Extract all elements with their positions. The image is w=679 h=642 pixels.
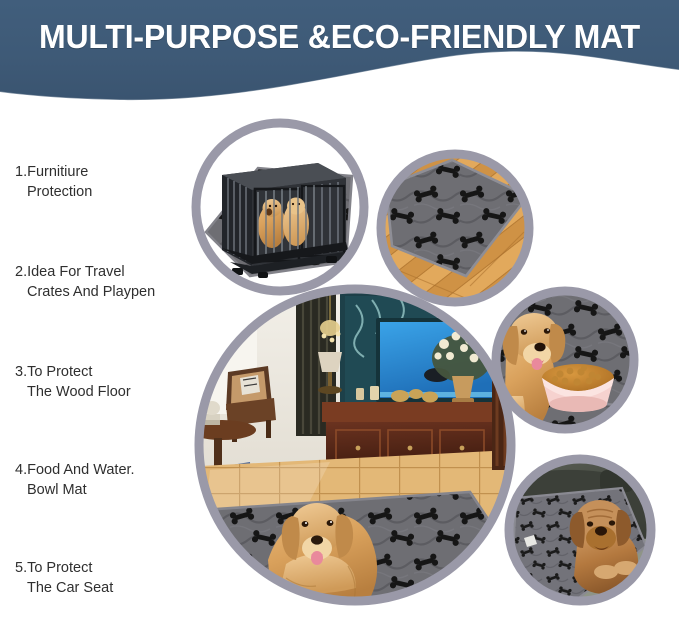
feature-4-line-1: 4.Food And Water. [15, 460, 200, 480]
feature-item-1: 1.Furnitiure Protection [15, 162, 200, 202]
feature-3-line-2: The Wood Floor [15, 382, 200, 402]
feature-1-line-1: 1.Furnitiure [15, 162, 200, 182]
feature-item-2: 2.Idea For Travel Crates And Playpen [15, 262, 200, 302]
food-bowl [542, 364, 614, 412]
feature-4-line-2: Bowl Mat [15, 480, 200, 500]
food-bowl-photo [496, 291, 634, 432]
wood-floor-photo [380, 153, 530, 303]
feature-5-line-2: The Car Seat [15, 578, 200, 598]
feature-1-line-2: Protection [15, 182, 200, 202]
feature-item-4: 4.Food And Water. Bowl Mat [15, 460, 200, 500]
living-room-photo [188, 289, 525, 640]
car-seat-photo [509, 459, 651, 601]
crate-photo [196, 123, 364, 291]
feature-2-line-2: Crates And Playpen [15, 282, 200, 302]
feature-5-line-1: 5.To Protect [15, 558, 200, 578]
feature-item-5: 5.To Protect The Car Seat [15, 558, 200, 598]
feature-item-3: 3.To Protect The Wood Floor [15, 362, 200, 402]
photo-collage [0, 0, 679, 642]
collage-graphic [0, 0, 679, 642]
page-title: MULTI-PURPOSE &ECO-FRIENDLY MAT [10, 17, 669, 57]
product-infographic: MULTI-PURPOSE &ECO-FRIENDLY MAT [0, 0, 679, 642]
feature-3-line-1: 3.To Protect [15, 362, 200, 382]
feature-2-line-1: 2.Idea For Travel [15, 262, 200, 282]
